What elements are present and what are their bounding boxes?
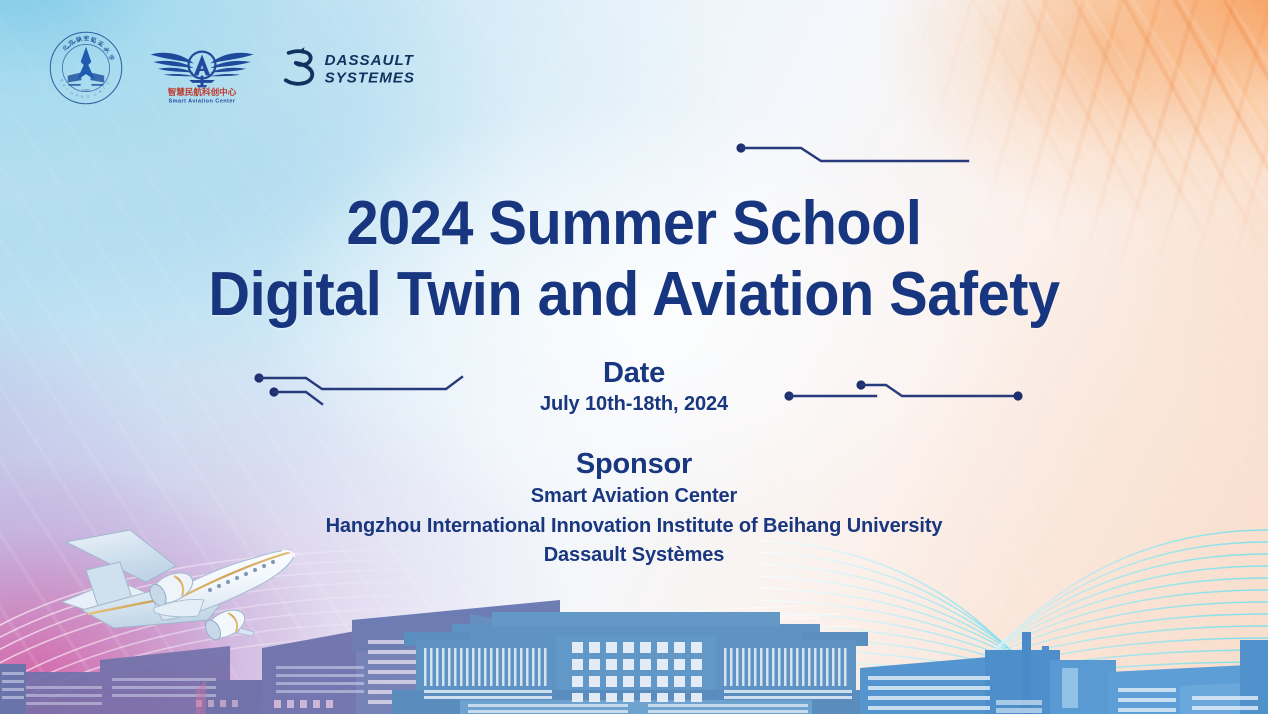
svg-text:N: N: [98, 89, 103, 94]
date-value: July 10th-18th, 2024: [0, 393, 1268, 416]
title-line-1: 2024 Summer School: [44, 192, 1223, 255]
svg-text:学: 学: [106, 53, 116, 63]
svg-text:H: H: [70, 91, 74, 96]
svg-text:E: E: [62, 83, 67, 88]
dassault-systemes-logo: DASSAULT SYSTEMES: [280, 44, 424, 92]
ds-wordmark-line1: DASSAULT: [325, 52, 415, 69]
buaa-seal-logo: 北 京 航 空 航 天 大 学 B E I H A N G U N I: [48, 30, 124, 106]
sponsor-heading: Sponsor: [0, 448, 1268, 480]
svg-text:I: I: [66, 88, 69, 92]
svg-text:G: G: [86, 94, 89, 98]
logo-bar: 北 京 航 空 航 天 大 学 B E I H A N G U N I: [48, 30, 424, 106]
date-block: Date July 10th-18th, 2024: [0, 358, 1268, 416]
sponsor-block: Sponsor Smart Aviation Center Hangzhou I…: [0, 448, 1268, 569]
sac-english-name: Smart Aviation Center: [169, 98, 236, 104]
svg-text:A: A: [75, 93, 79, 98]
poster-canvas: 北 京 航 空 航 天 大 学 B E I H A N G U N I: [0, 0, 1268, 714]
sac-chinese-name: 智慧民航科创中心: [168, 86, 237, 97]
date-heading: Date: [0, 358, 1268, 390]
svg-text:B: B: [59, 78, 64, 83]
svg-text:航: 航: [90, 35, 97, 44]
svg-text:N: N: [81, 95, 84, 99]
sponsor-org-2: Hangzhou International Innovation Instit…: [0, 513, 1268, 539]
ds-wordmark-line2: SYSTEMES: [325, 69, 415, 86]
svg-text:1952: 1952: [82, 89, 90, 93]
svg-text:V: V: [106, 81, 111, 86]
svg-text:航: 航: [75, 35, 83, 45]
sponsor-org-1: Smart Aviation Center: [0, 483, 1268, 509]
svg-text:大: 大: [102, 45, 112, 55]
page-title: 2024 Summer School Digital Twin and Avia…: [0, 192, 1268, 326]
smart-aviation-center-logo: 智慧民航科创中心 Smart Aviation Center: [146, 30, 258, 106]
svg-text:I: I: [102, 86, 105, 90]
title-line-2: Digital Twin and Aviation Safety: [44, 263, 1223, 326]
svg-text:空: 空: [83, 34, 90, 42]
svg-text:U: U: [93, 92, 97, 97]
sponsor-org-3: Dassault Systèmes: [0, 542, 1268, 568]
circuit-trace-top: [736, 143, 968, 161]
